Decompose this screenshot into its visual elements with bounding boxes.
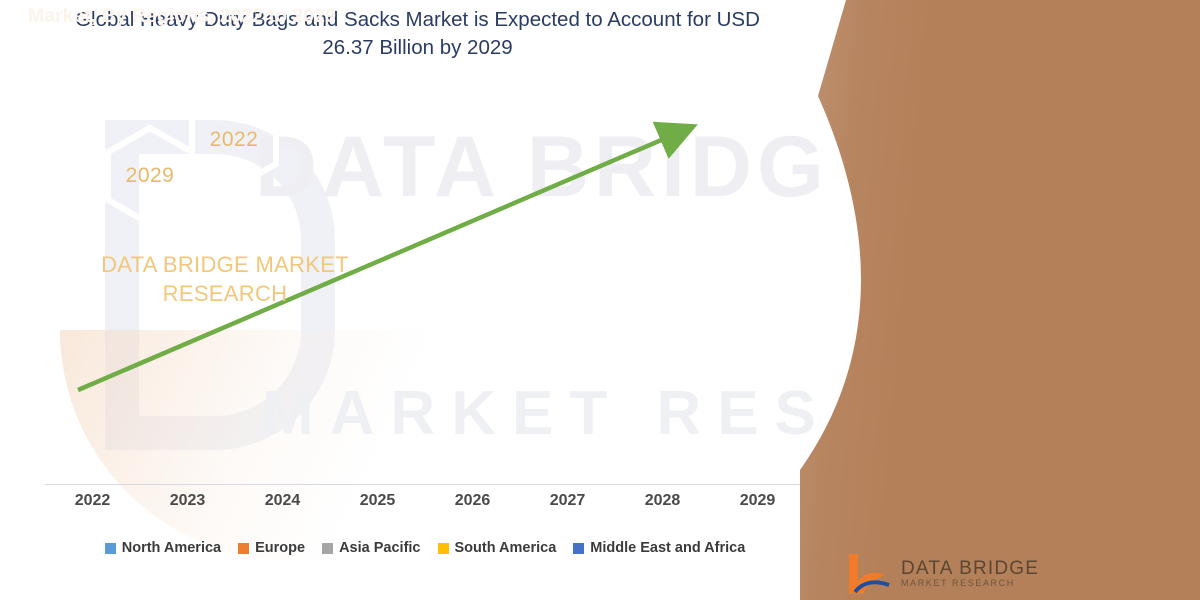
- legend-item[interactable]: South America: [438, 540, 557, 556]
- legend-label: Europe: [255, 540, 305, 556]
- bar-column: [714, 110, 802, 484]
- panel-brand-name: DATA BRIDGE MARKET RESEARCH: [60, 250, 390, 308]
- legend-label: South America: [455, 540, 557, 556]
- legend-item[interactable]: North America: [105, 540, 221, 556]
- bar-column: [619, 110, 707, 484]
- legend-item[interactable]: Asia Pacific: [322, 540, 420, 556]
- panel-brand-line-1: DATA BRIDGE MARKET: [60, 250, 390, 279]
- panel-shine-overlay: [800, 0, 1200, 600]
- legend-swatch-icon: [573, 543, 584, 554]
- x-axis-tick-label: 2026: [429, 492, 517, 510]
- legend-label: Asia Pacific: [339, 540, 420, 556]
- x-axis-line: [45, 484, 805, 485]
- hex-badge-group: 2022 2029: [88, 88, 358, 223]
- company-logo: DATA BRIDGE MARKET RESEARCH: [845, 552, 1039, 596]
- legend-label: North America: [122, 540, 221, 556]
- logo-subtitle: MARKET RESEARCH: [901, 579, 1039, 588]
- logo-mark-icon: [845, 552, 891, 596]
- legend-item[interactable]: Europe: [238, 540, 305, 556]
- legend-swatch-icon: [438, 543, 449, 554]
- logo-title: DATA BRIDGE: [901, 559, 1039, 579]
- bar-column: [429, 110, 517, 484]
- hex-badge-2029-label: 2029: [121, 164, 179, 188]
- legend-swatch-icon: [238, 543, 249, 554]
- hex-badge-2022-label: 2022: [205, 128, 263, 152]
- x-axis-tick-label: 2022: [49, 492, 137, 510]
- legend-swatch-icon: [322, 543, 333, 554]
- x-axis-tick-label: 2029: [714, 492, 802, 510]
- bar-column: [524, 110, 612, 484]
- infographic-root: DATA BRIDGE MARKET RESEARCH Global Heavy…: [0, 0, 1200, 600]
- x-axis-tick-label: 2027: [524, 492, 612, 510]
- legend-item[interactable]: Middle East and Africa: [573, 540, 745, 556]
- hex-badge-shapes: [88, 88, 358, 223]
- panel-heading: Market, By Regions, 2022 to 2029: [28, 5, 388, 28]
- x-axis-tick-label: 2024: [239, 492, 327, 510]
- x-axis-tick-label: 2025: [334, 492, 422, 510]
- chart-legend: North AmericaEuropeAsia PacificSouth Ame…: [45, 540, 805, 556]
- legend-label: Middle East and Africa: [590, 540, 745, 556]
- x-axis-tick-label: 2028: [619, 492, 707, 510]
- right-info-panel: [800, 0, 1200, 600]
- x-axis-tick-label: 2023: [144, 492, 232, 510]
- legend-swatch-icon: [105, 543, 116, 554]
- logo-text-block: DATA BRIDGE MARKET RESEARCH: [901, 559, 1039, 588]
- panel-brand-line-2: RESEARCH: [60, 279, 390, 308]
- x-axis-labels: 20222023202420252026202720282029: [45, 492, 805, 510]
